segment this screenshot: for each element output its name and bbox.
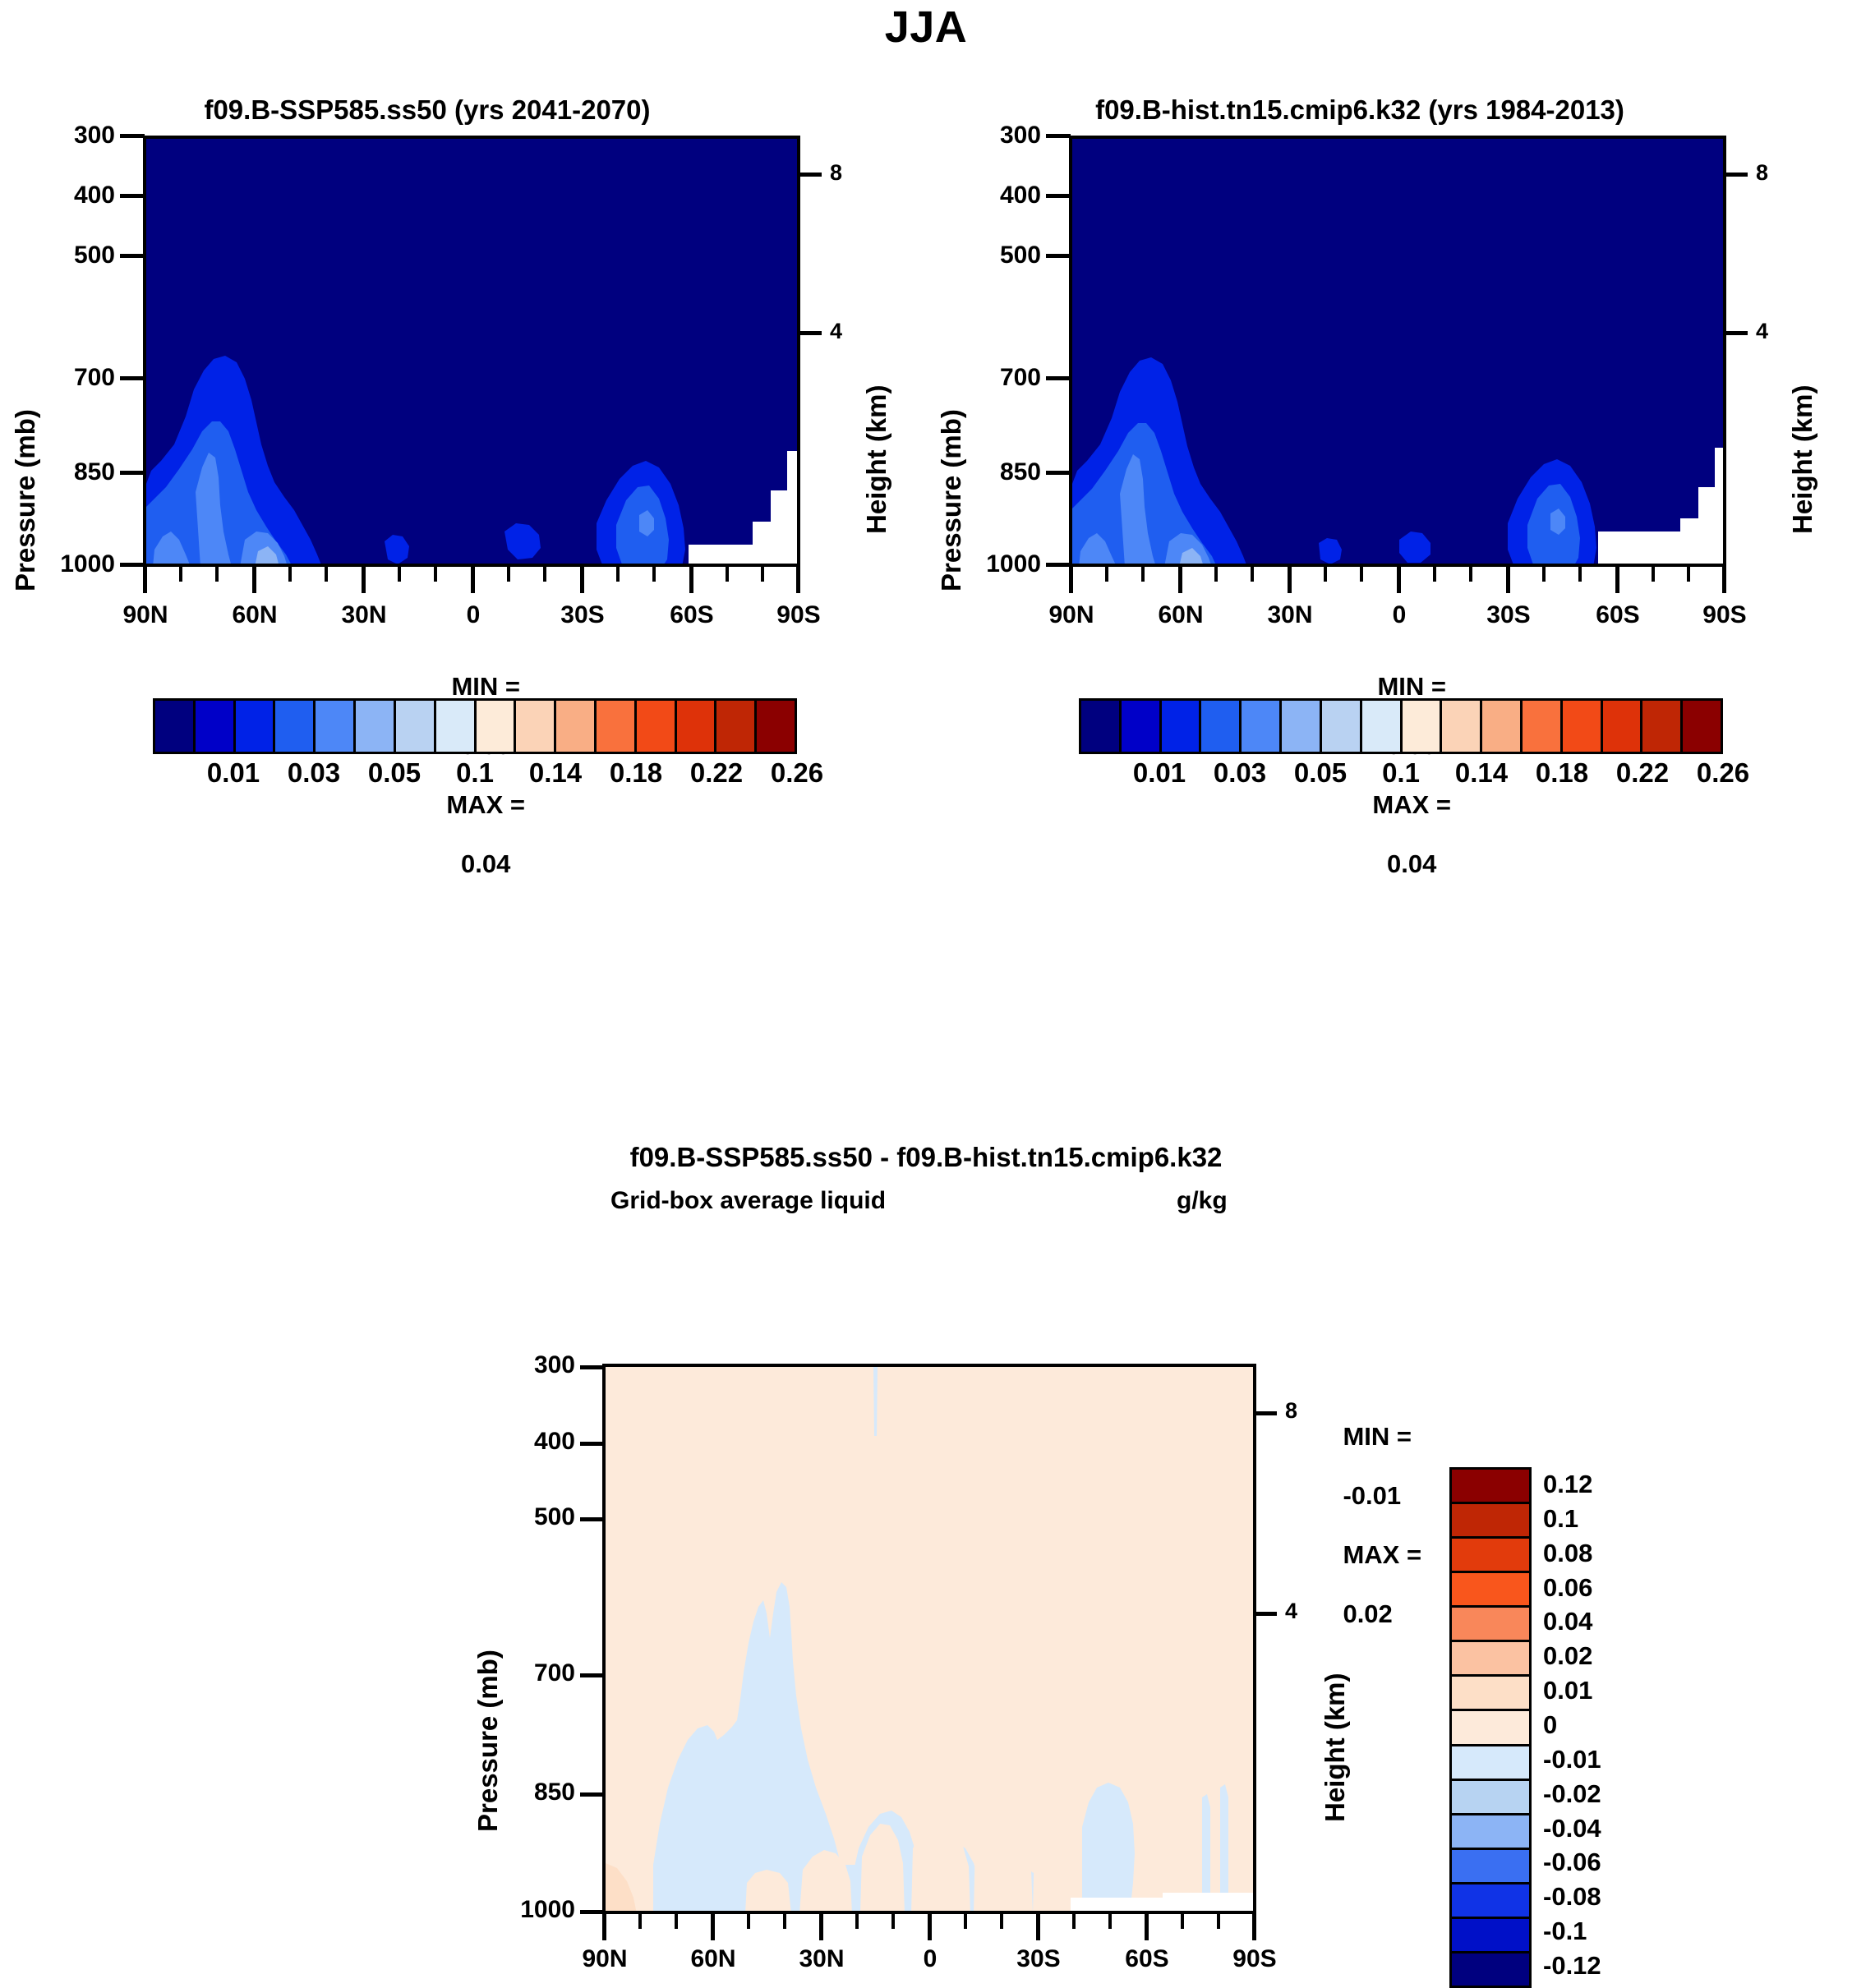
min-label: MIN = [1343, 1422, 1412, 1451]
colorbar-swatch[interactable] [677, 701, 717, 752]
colorbar-swatch[interactable] [1452, 1504, 1529, 1539]
contour-field-top-left [146, 139, 797, 564]
colorbar-swatch[interactable] [1452, 1539, 1529, 1573]
ytick-label: 1000 [938, 550, 1041, 578]
colorbar-tick-label: 0.02 [1543, 1641, 1707, 1671]
colorbar-swatch[interactable] [477, 701, 517, 752]
colorbar-swatch[interactable] [757, 701, 795, 752]
colorbar-swatch[interactable] [356, 701, 396, 752]
ytick-label: 500 [25, 242, 115, 269]
colorbar-swatch[interactable] [1452, 1573, 1529, 1608]
height-tick-label: 4 [830, 319, 842, 344]
colorbar-tick-label: 0.12 [1543, 1470, 1707, 1499]
colorbar-swatch[interactable] [1452, 1781, 1529, 1815]
colorbar-swatch[interactable] [556, 701, 597, 752]
xtick-label: 60S [643, 601, 741, 629]
ytick-label: 300 [485, 1351, 575, 1379]
xtick-label: 30N [772, 1945, 871, 1973]
colorbar-swatch[interactable] [1452, 1746, 1529, 1781]
max-value: 0.04 [461, 849, 510, 878]
min-value: -0.01 [1343, 1481, 1401, 1510]
max-label: MAX = [1343, 1540, 1421, 1569]
ytick-label: 300 [25, 122, 115, 150]
colorbar-swatch[interactable] [1452, 1470, 1529, 1504]
colorbar-swatch[interactable] [196, 701, 236, 752]
colorbar-swatch[interactable] [1322, 701, 1362, 752]
panel-difference-variable-label: Grid-box average liquid [610, 1187, 886, 1215]
max-value: 0.04 [1387, 849, 1436, 878]
colorbar-swatch[interactable] [1683, 701, 1721, 752]
colorbar-tick-label: -0.08 [1543, 1882, 1707, 1912]
ytick-label: 400 [951, 182, 1041, 209]
panel-top-right-yaxis-title: Pressure (mb) [936, 246, 967, 591]
colorbar-swatch[interactable] [1563, 701, 1603, 752]
colorbar-tick-label: -0.12 [1543, 1951, 1707, 1981]
colorbar-swatch[interactable] [1403, 701, 1443, 752]
colorbar-swatch[interactable] [597, 701, 637, 752]
colorbar-swatch[interactable] [1201, 701, 1242, 752]
colorbar-tick-label: 0.03 [288, 757, 340, 789]
panel-top-right-title: f09.B-hist.tn15.cmip6.k32 (yrs 1984-2013… [926, 94, 1794, 126]
ytick-label: 850 [25, 458, 115, 486]
xtick-label: 30N [1241, 601, 1339, 629]
colorbar-absolute-right-labels: 0.010.030.050.10.140.180.220.26 [1079, 757, 1723, 794]
colorbar-swatch[interactable] [1081, 701, 1122, 752]
colorbar-tick-label: 0.18 [610, 757, 662, 789]
colorbar-tick-label: 0 [1543, 1710, 1707, 1740]
colorbar-tick-label: 0.01 [1543, 1676, 1707, 1705]
colorbar-swatch[interactable] [396, 701, 436, 752]
xtick-label: 0 [424, 601, 523, 629]
ytick-label: 700 [25, 364, 115, 392]
colorbar-absolute-left-labels: 0.010.030.050.10.140.180.220.26 [153, 757, 797, 794]
min-label: MIN = [1377, 672, 1446, 701]
xtick-label: 0 [1350, 601, 1449, 629]
colorbar-tick-label: 0.14 [529, 757, 582, 789]
colorbar-tick-label: 0.1 [1382, 757, 1420, 789]
xtick-label: 90N [1022, 601, 1121, 629]
xtick-label: 60S [1569, 601, 1667, 629]
xtick-label: 30S [533, 601, 632, 629]
max-value: 0.02 [1343, 1599, 1392, 1628]
colorbar-swatch[interactable] [236, 701, 276, 752]
max-label: MAX = [446, 790, 525, 819]
colorbar-swatch[interactable] [1162, 701, 1202, 752]
height-tick-label: 8 [1285, 1398, 1297, 1424]
colorbar-swatch[interactable] [1523, 701, 1563, 752]
ytick-label: 300 [951, 122, 1041, 150]
colorbar-swatch[interactable] [1452, 1884, 1529, 1919]
xtick-label: 90S [1205, 1945, 1304, 1973]
colorbar-swatch[interactable] [1452, 1953, 1529, 1986]
colorbar-tick-label: 0.26 [1697, 757, 1749, 789]
colorbar-tick-label: 0.18 [1536, 757, 1588, 789]
colorbar-absolute-right[interactable] [1079, 698, 1723, 754]
colorbar-swatch[interactable] [1482, 701, 1523, 752]
colorbar-swatch[interactable] [1362, 701, 1403, 752]
panel-top-right-height-axis-title: Height (km) [1787, 263, 1818, 534]
xtick-label: 60N [205, 601, 304, 629]
xtick-label: 60N [1131, 601, 1230, 629]
ytick-label: 1000 [12, 550, 115, 578]
colorbar-swatch[interactable] [1452, 1677, 1529, 1711]
colorbar-tick-label: 0.22 [1616, 757, 1669, 789]
figure-title: JJA [0, 2, 1852, 53]
xtick-label: 30N [315, 601, 413, 629]
height-tick-label: 8 [1756, 160, 1768, 186]
xtick-label: 30S [1459, 601, 1558, 629]
colorbar-difference-labels: 0.120.10.080.060.040.020.010-0.01-0.02-0… [1543, 1467, 1724, 1983]
xtick-label: 0 [881, 1945, 979, 1973]
colorbar-tick-label: 0.04 [1543, 1607, 1707, 1636]
panel-top-left-height-axis-title: Height (km) [861, 263, 892, 534]
panel-top-left-title: f09.B-SSP585.ss50 (yrs 2041-2070) [0, 94, 855, 126]
colorbar-swatch[interactable] [637, 701, 677, 752]
xtick-label: 90S [1675, 601, 1774, 629]
ytick-label: 700 [485, 1659, 575, 1687]
xtick-label: 60N [664, 1945, 762, 1973]
height-tick-label: 4 [1285, 1599, 1297, 1624]
colorbar-tick-label: -0.02 [1543, 1779, 1707, 1809]
colorbar-tick-label: 0.08 [1543, 1539, 1707, 1568]
panel-difference-plot[interactable] [602, 1364, 1256, 1914]
ytick-label: 1000 [472, 1896, 575, 1924]
colorbar-tick-label: 0.05 [368, 757, 421, 789]
colorbar-tick-label: 0.22 [690, 757, 743, 789]
colorbar-difference[interactable] [1449, 1467, 1532, 1988]
colorbar-tick-label: 0.05 [1294, 757, 1347, 789]
colorbar-swatch[interactable] [1452, 1815, 1529, 1850]
ytick-label: 400 [25, 182, 115, 209]
max-label: MAX = [1372, 790, 1451, 819]
height-tick-label: 8 [830, 160, 842, 186]
colorbar-absolute-left[interactable] [153, 698, 797, 754]
colorbar-swatch[interactable] [1452, 1608, 1529, 1642]
panel-top-left-plot[interactable] [143, 136, 800, 567]
height-tick-label: 4 [1756, 319, 1768, 344]
colorbar-swatch[interactable] [1442, 701, 1482, 752]
xtick-label: 90S [749, 601, 848, 629]
colorbar-swatch[interactable] [516, 701, 556, 752]
panel-top-right: f09.B-hist.tn15.cmip6.k32 (yrs 1984-2013… [926, 49, 1852, 1142]
contour-field-difference [606, 1367, 1253, 1911]
colorbar-swatch[interactable] [1452, 1919, 1529, 1953]
colorbar-tick-label: 0.14 [1455, 757, 1508, 789]
colorbar-swatch[interactable] [1122, 701, 1162, 752]
colorbar-swatch[interactable] [1452, 1711, 1529, 1746]
colorbar-swatch[interactable] [1452, 1642, 1529, 1677]
colorbar-swatch[interactable] [1452, 1850, 1529, 1884]
colorbar-tick-label: 0.06 [1543, 1573, 1707, 1603]
panel-top-left: f09.B-SSP585.ss50 (yrs 2041-2070) Grid-b… [0, 49, 926, 1142]
colorbar-tick-label: -0.04 [1543, 1814, 1707, 1843]
colorbar-swatch[interactable] [1242, 701, 1282, 752]
colorbar-tick-label: 0.1 [1543, 1504, 1707, 1534]
panel-difference: f09.B-SSP585.ss50 - f09.B-hist.tn15.cmip… [0, 1101, 1852, 1986]
colorbar-swatch[interactable] [155, 701, 196, 752]
xtick-label: 30S [989, 1945, 1088, 1973]
colorbar-swatch[interactable] [436, 701, 477, 752]
colorbar-swatch[interactable] [716, 701, 757, 752]
colorbar-tick-label: 0.26 [771, 757, 823, 789]
colorbar-swatch[interactable] [1603, 701, 1643, 752]
colorbar-swatch[interactable] [1282, 701, 1322, 752]
ytick-label: 850 [485, 1779, 575, 1806]
panel-top-left-yaxis-title: Pressure (mb) [10, 246, 41, 591]
ytick-label: 850 [951, 458, 1041, 486]
colorbar-tick-label: 0.1 [456, 757, 494, 789]
colorbar-tick-label: -0.06 [1543, 1848, 1707, 1877]
colorbar-tick-label: -0.01 [1543, 1745, 1707, 1774]
ytick-label: 700 [951, 364, 1041, 392]
contour-field-top-right [1072, 139, 1723, 564]
xtick-label: 90N [96, 601, 195, 629]
ytick-label: 500 [951, 242, 1041, 269]
colorbar-swatch[interactable] [316, 701, 356, 752]
panel-difference-units: g/kg [1177, 1187, 1228, 1215]
panel-difference-title: f09.B-SSP585.ss50 - f09.B-hist.tn15.cmip… [0, 1142, 1852, 1173]
xtick-label: 60S [1098, 1945, 1196, 1973]
min-label: MIN = [451, 672, 520, 701]
panel-top-right-plot[interactable] [1069, 136, 1726, 567]
colorbar-tick-label: 0.01 [1133, 757, 1186, 789]
colorbar-swatch[interactable] [275, 701, 316, 752]
colorbar-tick-label: 0.01 [207, 757, 260, 789]
ytick-label: 400 [485, 1428, 575, 1456]
xtick-label: 90N [555, 1945, 654, 1973]
colorbar-swatch[interactable] [1642, 701, 1683, 752]
ytick-label: 500 [485, 1503, 575, 1531]
colorbar-tick-label: 0.03 [1214, 757, 1266, 789]
colorbar-tick-label: -0.1 [1543, 1917, 1707, 1946]
